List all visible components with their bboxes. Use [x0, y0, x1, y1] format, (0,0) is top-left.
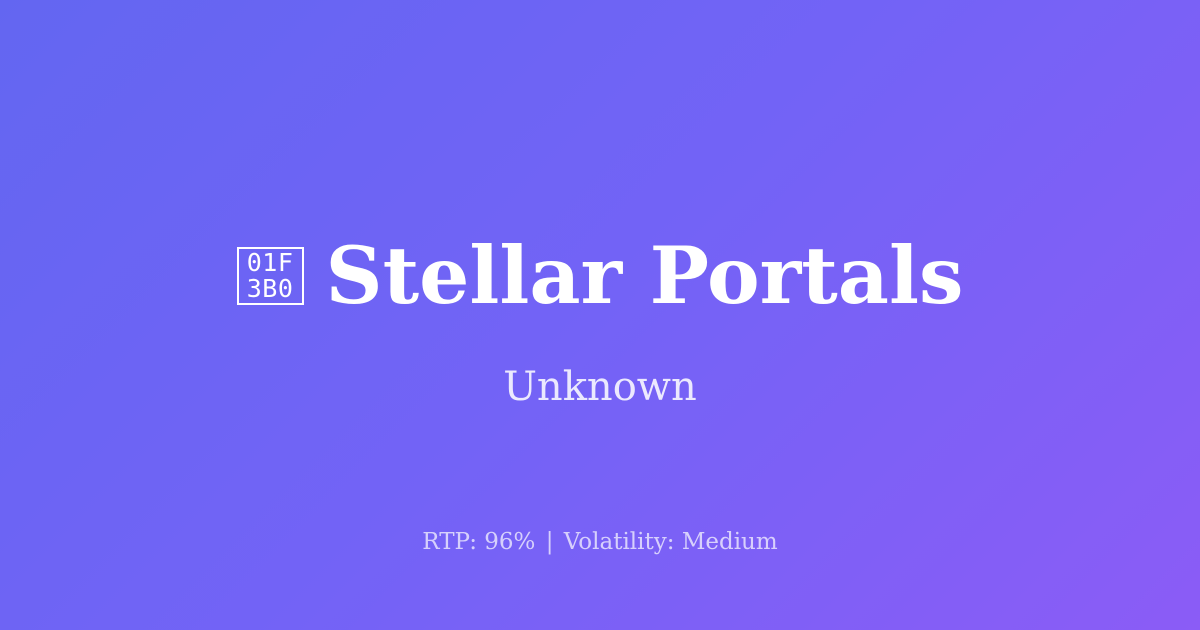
slot-machine-icon-codepoint-lower: 3B0: [247, 276, 294, 302]
volatility-value: Medium: [682, 529, 778, 555]
rtp-label: RTP:: [422, 529, 477, 555]
page-title: Stellar Portals: [326, 231, 964, 321]
game-stats: RTP: 96% | Volatility: Medium: [0, 526, 1200, 558]
rtp-value: 96%: [484, 529, 535, 555]
game-preview-card: 01F 3B0 Stellar Portals Unknown RTP: 96%…: [0, 0, 1200, 630]
volatility-label: Volatility:: [564, 529, 675, 555]
slot-machine-icon: 01F 3B0: [237, 247, 304, 305]
slot-machine-icon-codepoint-upper: 01F: [247, 250, 294, 276]
stats-separator: |: [543, 529, 557, 555]
title-row: 01F 3B0 Stellar Portals: [0, 231, 1200, 321]
provider-label: Unknown: [0, 362, 1200, 412]
